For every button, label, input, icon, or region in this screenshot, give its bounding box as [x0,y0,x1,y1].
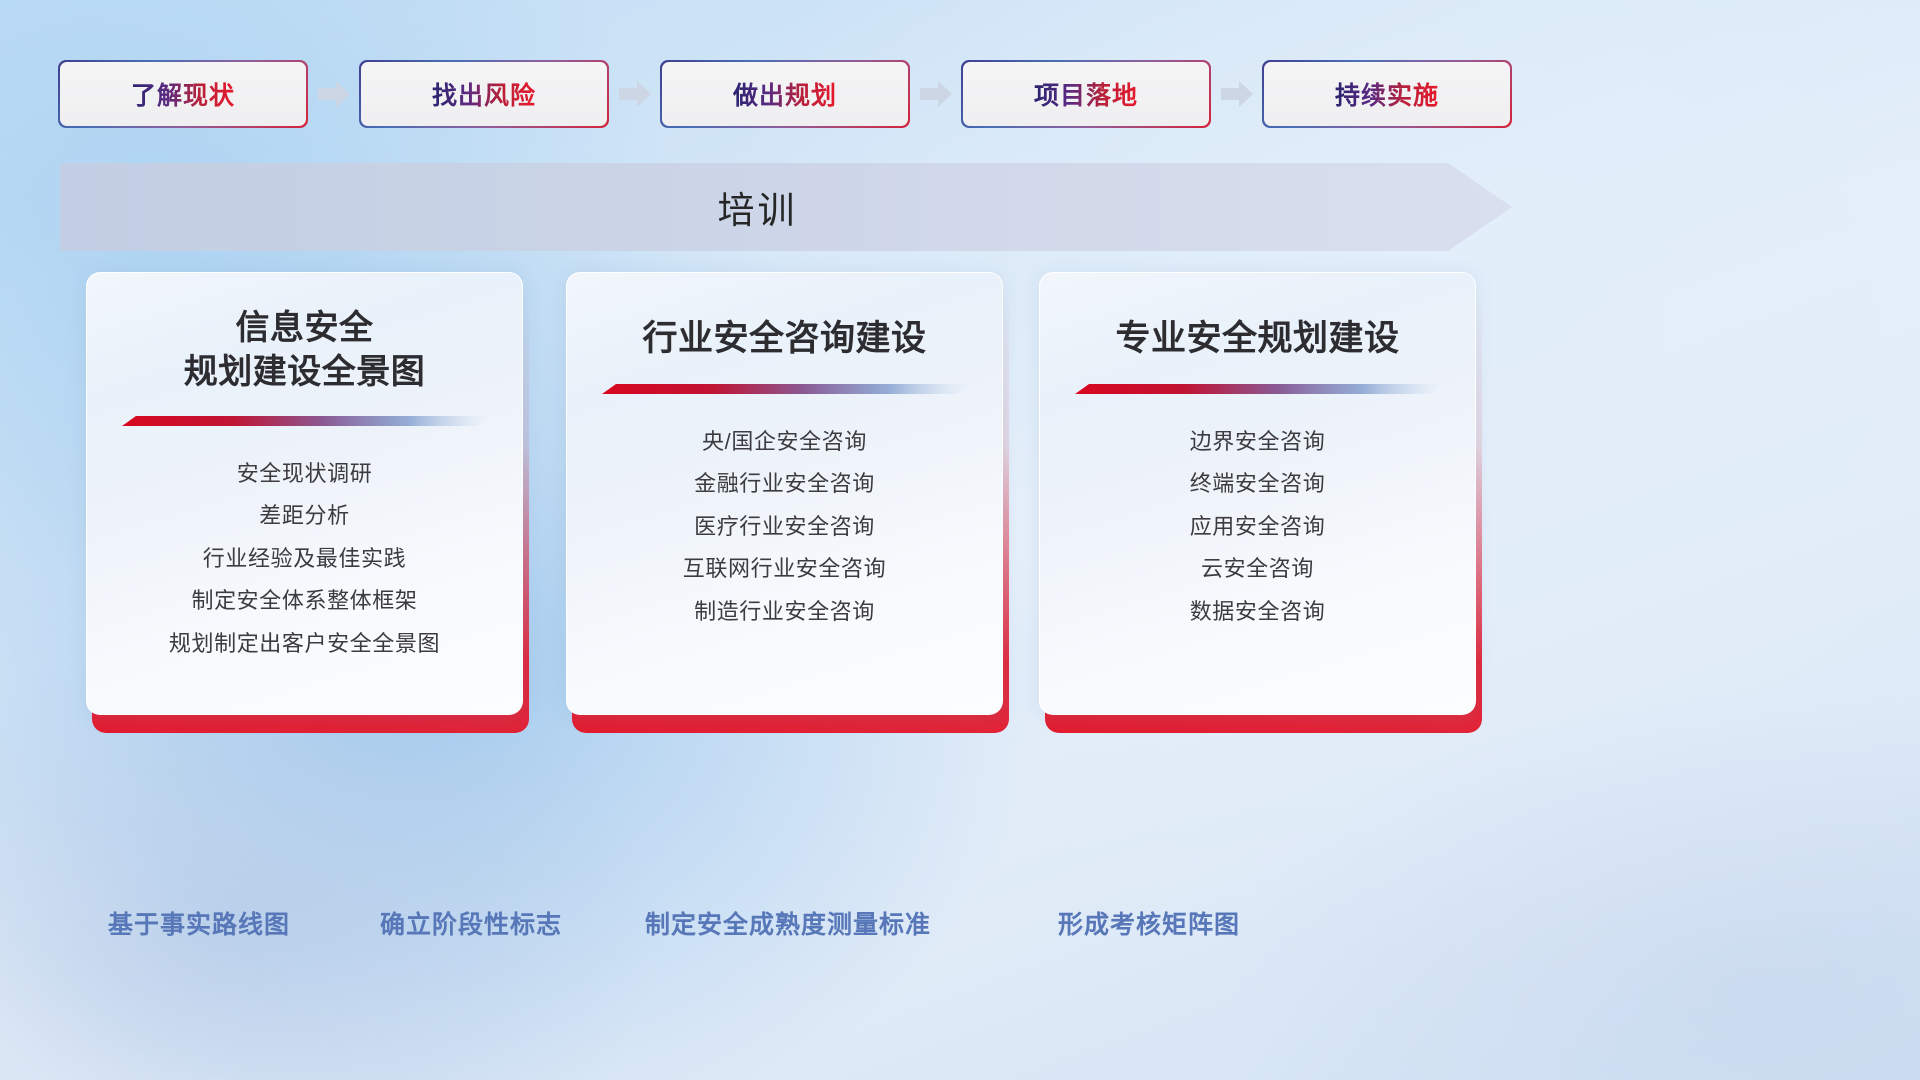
card-item: 央/国企安全咨询 [567,421,1002,463]
training-banner: 培训 [60,163,1512,251]
card-title: 行业安全咨询建设 [567,317,1002,362]
card-body: 信息安全 规划建设全景图 [86,272,523,715]
card-items: 安全现状调研 差距分析 行业经验及最佳实践 制定安全体系整体框架 规划制定出客户… [87,453,522,665]
chevron-right-arrow-icon [920,81,952,107]
process-step-label: 做出规划 [733,76,837,112]
card-item: 终端安全咨询 [1040,463,1475,505]
card-items: 央/国企安全咨询 金融行业安全咨询 医疗行业安全咨询 互联网行业安全咨询 制造行… [567,421,1002,633]
process-step-0[interactable]: 了解现状 [60,62,306,126]
card-divider [1073,382,1443,395]
card-item: 安全现状调研 [87,453,522,495]
process-step-label: 项目落地 [1034,76,1138,112]
chevron-right-arrow-icon [1221,81,1253,107]
chevron-right-arrow-icon [619,81,651,107]
card-item: 医疗行业安全咨询 [567,506,1002,548]
footnote-0: 基于事实路线图 [108,905,290,941]
card-item: 差距分析 [87,495,522,537]
card-title: 信息安全 规划建设全景图 [87,307,522,394]
card-item: 边界安全咨询 [1040,421,1475,463]
card-item: 数据安全咨询 [1040,591,1475,633]
card-item: 制造行业安全咨询 [567,591,1002,633]
card-item: 行业经验及最佳实践 [87,538,522,580]
slide-stage: 了解现状 找出风险 做出规划 项目落地 [0,0,1920,1080]
process-step-3[interactable]: 项目落地 [963,62,1209,126]
card-divider [120,414,490,427]
card-1[interactable]: 行业安全咨询建设 [566,272,1003,715]
card-item: 金融行业安全咨询 [567,463,1002,505]
card-item: 规划制定出客户安全全景图 [87,623,522,665]
card-body: 专业安全规划建设 [1039,272,1476,715]
process-step-label: 找出风险 [432,76,536,112]
process-step-label: 持续实施 [1335,76,1439,112]
card-0[interactable]: 信息安全 规划建设全景图 [86,272,523,715]
footnote-3: 形成考核矩阵图 [1058,905,1240,941]
chevron-right-arrow-icon [318,81,350,107]
training-banner-label: 培训 [60,163,1455,251]
footnote-1: 确立阶段性标志 [380,905,562,941]
card-divider [600,382,970,395]
process-step-row: 了解现状 找出风险 做出规划 项目落地 [60,62,1510,126]
cards-row: 信息安全 规划建设全景图 [86,272,1496,717]
card-body: 行业安全咨询建设 [566,272,1003,715]
card-item: 互联网行业安全咨询 [567,548,1002,590]
process-step-4[interactable]: 持续实施 [1264,62,1510,126]
card-2[interactable]: 专业安全规划建设 [1039,272,1476,715]
card-item: 云安全咨询 [1040,548,1475,590]
card-item: 应用安全咨询 [1040,506,1475,548]
footnote-2: 制定安全成熟度测量标准 [645,905,931,941]
card-items: 边界安全咨询 终端安全咨询 应用安全咨询 云安全咨询 数据安全咨询 [1040,421,1475,633]
card-title: 专业安全规划建设 [1040,317,1475,362]
process-step-label: 了解现状 [131,76,235,112]
process-step-1[interactable]: 找出风险 [361,62,607,126]
footnote-row: 基于事实路线图 确立阶段性标志 制定安全成熟度测量标准 形成考核矩阵图 [0,905,1920,949]
card-item: 制定安全体系整体框架 [87,580,522,622]
process-step-2[interactable]: 做出规划 [662,62,908,126]
